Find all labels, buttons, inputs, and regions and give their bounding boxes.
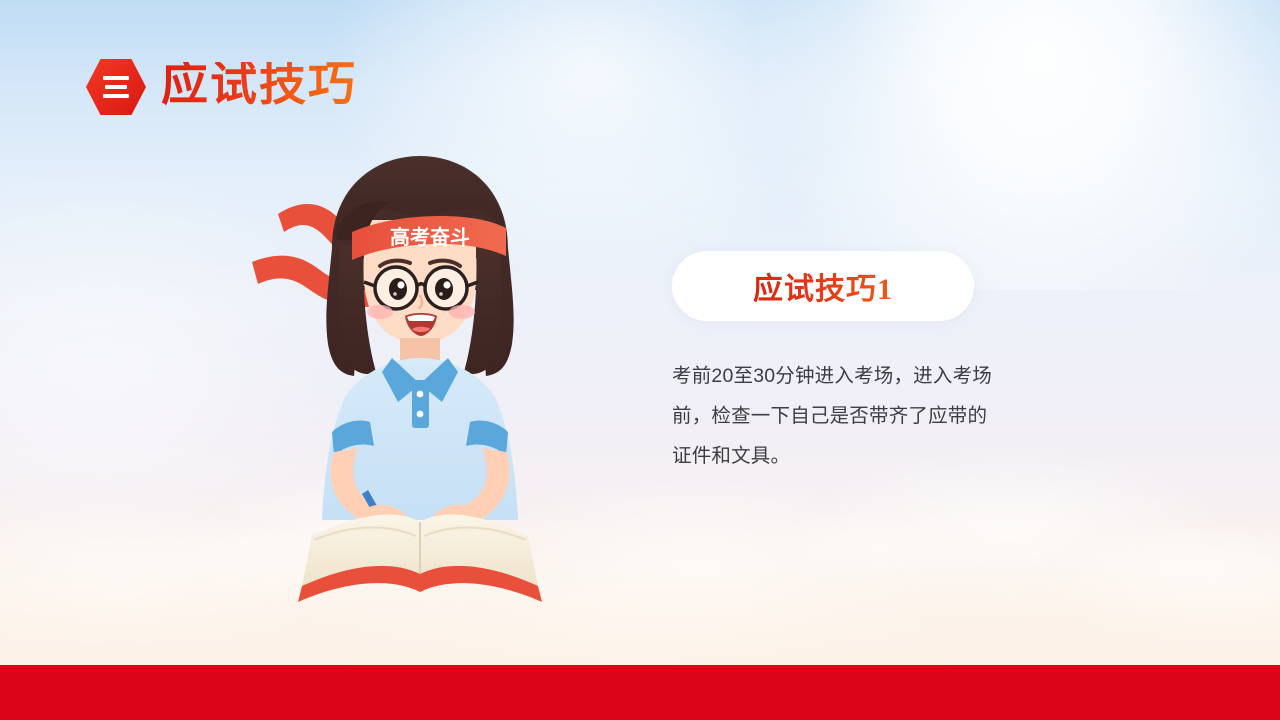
placket: [412, 380, 429, 428]
section-header: 应试技巧: [85, 56, 357, 118]
content-paragraph: 考前20至30分钟进入考场，进入考场前，检查一下自己是否带齐了应带的证件和文具。: [672, 356, 994, 476]
cheek-right: [449, 305, 475, 319]
hex-bar-middle: [105, 85, 127, 89]
bottom-accent-bar: [0, 665, 1280, 720]
content-card: 应试技巧1: [672, 251, 974, 321]
page-title: 应试技巧: [161, 62, 357, 113]
open-book: [298, 514, 542, 602]
badge-number-three: [85, 56, 147, 118]
warm-haze: [0, 495, 1280, 665]
slide-canvas: 应试技巧: [0, 0, 1280, 720]
headband-text: 高考奋斗: [390, 225, 470, 249]
hexagon-badge-icon: [85, 56, 147, 118]
student-girl-illustration: 高考奋斗: [240, 140, 600, 630]
button-top: [417, 391, 424, 398]
button-bottom: [417, 411, 424, 418]
hex-bar-top: [103, 76, 129, 80]
hex-bar-bottom: [103, 94, 129, 98]
card-title: 应试技巧1: [753, 264, 893, 308]
cheek-left: [367, 305, 393, 319]
